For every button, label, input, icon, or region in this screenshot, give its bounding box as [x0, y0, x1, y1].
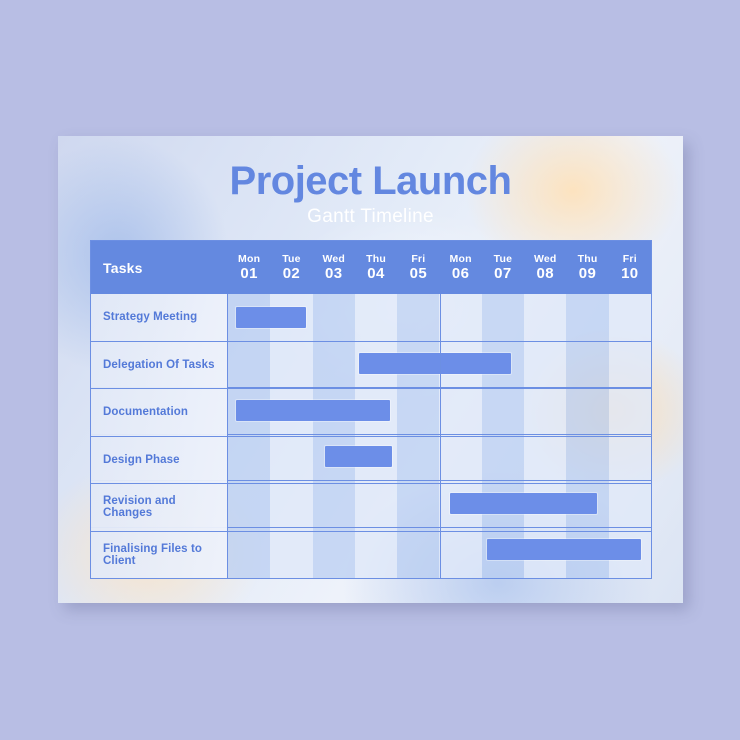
day-of-week-label: Thu [366, 253, 386, 265]
day-of-week-label: Tue [282, 253, 301, 265]
day-column-header: Tue02 [270, 241, 312, 294]
day-number-label: 08 [536, 265, 554, 282]
task-timeline-track[interactable] [228, 294, 651, 341]
day-column-header: Thu04 [355, 241, 397, 294]
day-column-header: Fri10 [609, 241, 651, 294]
day-number-label: 01 [240, 265, 258, 282]
table-row[interactable]: Design Phase [91, 436, 651, 484]
day-of-week-label: Wed [534, 253, 557, 265]
table-row[interactable]: Strategy Meeting [91, 294, 651, 341]
task-timeline-track[interactable] [228, 389, 651, 436]
gantt-table: Tasks Mon01Tue02Wed03Thu04Fri05Mon06Tue0… [90, 240, 652, 579]
gantt-body: Strategy MeetingDelegation Of TasksDocum… [91, 294, 651, 578]
title-block: Project Launch Gantt Timeline [58, 160, 683, 228]
day-column-header: Wed03 [313, 241, 355, 294]
gantt-header-row: Tasks Mon01Tue02Wed03Thu04Fri05Mon06Tue0… [91, 241, 651, 294]
task-name-cell[interactable]: Design Phase [91, 437, 228, 484]
task-name-cell[interactable]: Delegation Of Tasks [91, 342, 228, 389]
page-subtitle: Gantt Timeline [58, 206, 683, 228]
day-number-label: 07 [494, 265, 512, 282]
task-name-cell[interactable]: Strategy Meeting [91, 294, 228, 341]
task-timeline-track[interactable] [228, 437, 651, 484]
task-timeline-track[interactable] [228, 342, 651, 389]
gantt-rows: Strategy MeetingDelegation Of TasksDocum… [91, 294, 651, 578]
day-column-header: Mon01 [228, 241, 270, 294]
table-row[interactable]: Delegation Of Tasks [91, 341, 651, 389]
table-row[interactable]: Finalising Files to Client [91, 531, 651, 579]
poster-canvas: Project Launch Gantt Timeline Tasks Mon0… [0, 0, 740, 740]
tasks-column-header: Tasks [91, 241, 228, 294]
day-column-header: Tue07 [482, 241, 524, 294]
day-of-week-label: Fri [623, 253, 637, 265]
day-number-label: 06 [452, 265, 470, 282]
day-of-week-label: Wed [322, 253, 345, 265]
day-number-label: 09 [579, 265, 597, 282]
day-column-header: Mon06 [439, 241, 481, 294]
day-columns-header: Mon01Tue02Wed03Thu04Fri05Mon06Tue07Wed08… [228, 241, 651, 294]
day-column-header: Thu09 [566, 241, 608, 294]
task-name-cell[interactable]: Documentation [91, 389, 228, 436]
task-timeline-track[interactable] [228, 532, 651, 579]
page-title: Project Launch [58, 160, 683, 202]
day-column-header: Fri05 [397, 241, 439, 294]
day-number-label: 05 [410, 265, 428, 282]
day-of-week-label: Mon [238, 253, 260, 265]
day-of-week-label: Fri [411, 253, 425, 265]
day-number-label: 03 [325, 265, 343, 282]
day-number-label: 04 [367, 265, 385, 282]
table-row[interactable]: Revision and Changes [91, 483, 651, 531]
gantt-card: Project Launch Gantt Timeline Tasks Mon0… [58, 136, 683, 603]
day-column-header: Wed08 [524, 241, 566, 294]
task-timeline-track[interactable] [228, 484, 651, 531]
day-of-week-label: Thu [578, 253, 598, 265]
day-number-label: 02 [283, 265, 301, 282]
day-number-label: 10 [621, 265, 639, 282]
table-row[interactable]: Documentation [91, 388, 651, 436]
task-name-cell[interactable]: Finalising Files to Client [91, 532, 228, 579]
day-of-week-label: Tue [494, 253, 513, 265]
task-name-cell[interactable]: Revision and Changes [91, 484, 228, 531]
day-of-week-label: Mon [450, 253, 472, 265]
